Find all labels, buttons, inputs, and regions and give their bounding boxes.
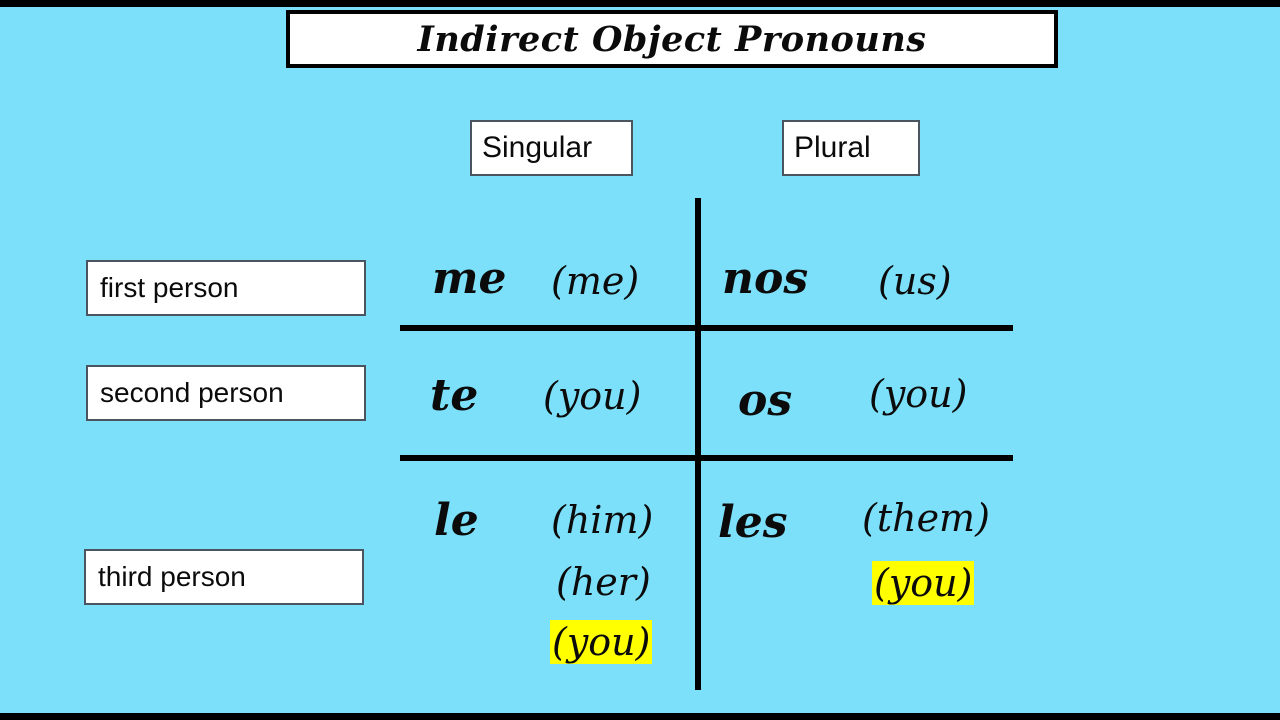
table-rule-vertical xyxy=(695,198,701,690)
pronoun-first-plural: nos xyxy=(722,253,808,304)
gloss-third-plural-2-highlighted: (you) xyxy=(872,561,974,605)
title-box: Indirect Object Pronouns xyxy=(286,10,1058,68)
pronoun-second-singular: te xyxy=(430,370,478,421)
column-header-singular-label: Singular xyxy=(482,131,592,165)
table-rule-horizontal-1 xyxy=(400,325,1013,331)
row-label-second-person: second person xyxy=(86,365,366,421)
column-header-plural: Plural xyxy=(782,120,920,176)
gloss-second-singular-1: (you) xyxy=(543,374,641,418)
pronoun-third-plural: les xyxy=(718,497,787,548)
gloss-third-singular-1: (him) xyxy=(551,498,653,542)
gloss-third-plural-1: (them) xyxy=(862,496,990,540)
letterbox-bar-top xyxy=(0,0,1280,7)
table-rule-horizontal-2 xyxy=(400,455,1013,461)
gloss-third-singular-2: (her) xyxy=(556,560,651,604)
gloss-third-singular-3-highlighted: (you) xyxy=(550,620,652,664)
gloss-first-plural-1: (us) xyxy=(878,259,952,303)
row-label-second-person-text: second person xyxy=(100,377,284,409)
pronoun-third-singular: le xyxy=(434,495,479,546)
row-label-first-person: first person xyxy=(86,260,366,316)
column-header-singular: Singular xyxy=(470,120,633,176)
gloss-second-plural-1: (you) xyxy=(869,372,967,416)
column-header-plural-label: Plural xyxy=(794,131,871,165)
row-label-third-person: third person xyxy=(84,549,364,605)
row-label-third-person-text: third person xyxy=(98,561,246,593)
gloss-first-singular-1: (me) xyxy=(551,259,639,303)
pronoun-first-singular: me xyxy=(432,253,507,304)
page-title: Indirect Object Pronouns xyxy=(417,19,926,60)
slide-canvas: Indirect Object Pronouns Singular Plural… xyxy=(0,0,1280,720)
letterbox-bar-bottom xyxy=(0,713,1280,720)
row-label-first-person-text: first person xyxy=(100,272,239,304)
pronoun-second-plural: os xyxy=(738,375,792,426)
